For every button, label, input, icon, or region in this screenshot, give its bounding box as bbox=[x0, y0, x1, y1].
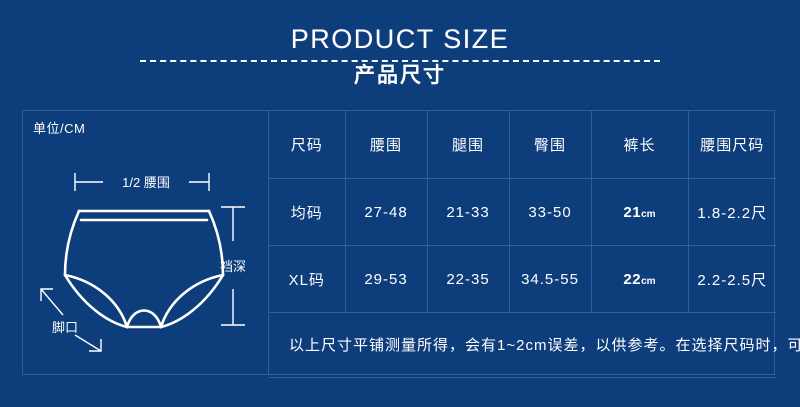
waist-dimension-label: 1/2 腰围 bbox=[122, 175, 170, 190]
cell-length: 22cm bbox=[591, 246, 688, 313]
cell-length-unit: cm bbox=[641, 276, 655, 287]
cell-thigh: 21-33 bbox=[427, 179, 509, 246]
column-header-hip: 臀围 bbox=[509, 111, 591, 179]
column-header-waist: 腰围 bbox=[345, 111, 427, 179]
panty-outline bbox=[65, 211, 223, 327]
cell-hip: 34.5-55 bbox=[509, 246, 591, 313]
cell-size: XL码 bbox=[269, 246, 345, 313]
cell-size: 均码 bbox=[269, 179, 345, 246]
page-header: PRODUCT SIZE 产品尺寸 bbox=[0, 0, 800, 100]
table-note-row: 以上尺寸平铺测量所得，会有1~2cm误差，以供参考。在选择尺码时，可用软尺保持自… bbox=[269, 313, 776, 378]
product-diagram-panel: 单位/CM 1/2 腰围 bbox=[23, 111, 269, 374]
page-title-chinese-wrap: 产品尺寸 bbox=[0, 62, 800, 90]
column-header-size: 尺码 bbox=[269, 111, 345, 179]
page-title-english: PRODUCT SIZE bbox=[0, 24, 800, 55]
size-table-panel: 尺码 腰围 腿围 臀围 裤长 腰围尺码 均码 27-48 21-33 33-50… bbox=[269, 111, 776, 374]
panty-measurement-diagram: 1/2 腰围 bbox=[23, 129, 269, 369]
cell-waist: 27-48 bbox=[345, 179, 427, 246]
cell-length-value: 22 bbox=[623, 271, 641, 288]
cell-thigh: 22-35 bbox=[427, 246, 509, 313]
column-header-thigh: 腿围 bbox=[427, 111, 509, 179]
size-table: 尺码 腰围 腿围 臀围 裤长 腰围尺码 均码 27-48 21-33 33-50… bbox=[269, 111, 776, 378]
cell-waist: 29-53 bbox=[345, 246, 427, 313]
size-note-text: 以上尺寸平铺测量所得，会有1~2cm误差，以供参考。在选择尺码时，可用软尺保持自… bbox=[269, 313, 776, 378]
column-header-length: 裤长 bbox=[591, 111, 688, 179]
table-header-row: 尺码 腰围 腿围 臀围 裤长 腰围尺码 bbox=[269, 111, 776, 179]
cell-waist-size: 2.2-2.5尺 bbox=[688, 246, 776, 313]
cell-waist-size: 1.8-2.2尺 bbox=[688, 179, 776, 246]
leg-opening-label: 脚口 bbox=[52, 320, 78, 335]
crotch-depth-label: 裆深 bbox=[220, 259, 246, 274]
size-chart-card: 单位/CM 1/2 腰围 bbox=[22, 110, 775, 375]
page-title-chinese: 产品尺寸 bbox=[338, 62, 462, 90]
cell-hip: 33-50 bbox=[509, 179, 591, 246]
column-header-waist-size: 腰围尺码 bbox=[688, 111, 776, 179]
table-row: 均码 27-48 21-33 33-50 21cm 1.8-2.2尺 bbox=[269, 179, 776, 246]
table-row: XL码 29-53 22-35 34.5-55 22cm 2.2-2.5尺 bbox=[269, 246, 776, 313]
cell-length-unit: cm bbox=[641, 209, 655, 220]
cell-length-value: 21 bbox=[623, 204, 641, 221]
cell-length: 21cm bbox=[591, 179, 688, 246]
